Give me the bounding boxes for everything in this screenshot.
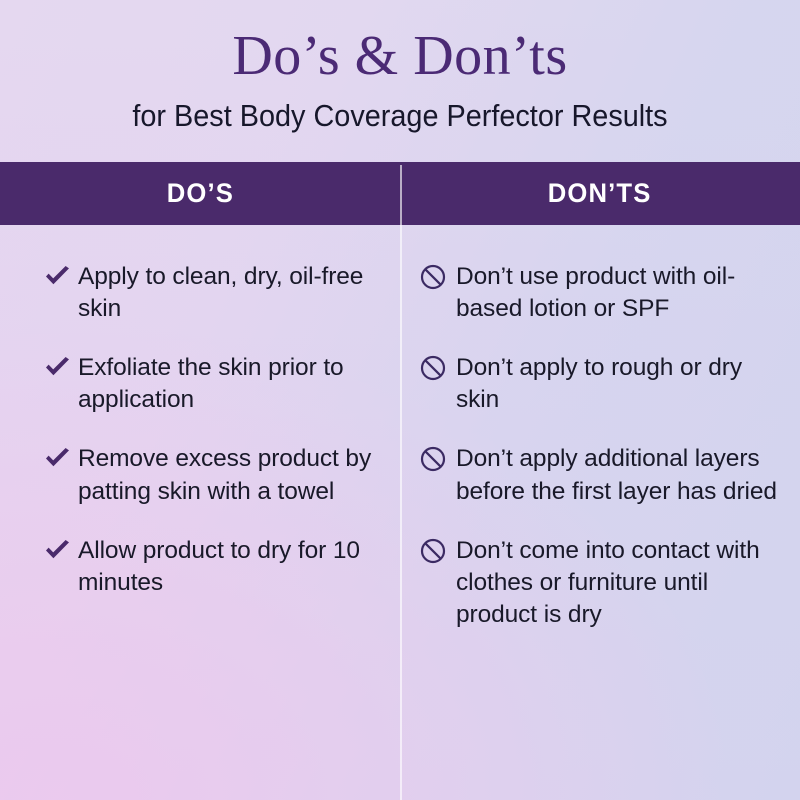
header: Do’s & Don’ts for Best Body Coverage Per…: [0, 0, 800, 134]
list-item-text: Remove excess product by patting skin wi…: [78, 443, 382, 507]
check-icon: [44, 535, 78, 561]
list-item-text: Allow product to dry for 10 minutes: [78, 535, 382, 599]
list-item-text: Exfoliate the skin prior to application: [78, 352, 382, 416]
column-header-donts: DON’TS: [400, 162, 800, 225]
list-item: Apply to clean, dry, oil-free skin: [44, 261, 382, 325]
prohibited-icon: [420, 535, 456, 564]
list-item-text: Apply to clean, dry, oil-free skin: [78, 261, 382, 325]
list-item: Allow product to dry for 10 minutes: [44, 535, 382, 599]
page-subtitle: for Best Body Coverage Perfector Results: [28, 98, 772, 134]
list-item-text: Don’t come into contact with clothes or …: [456, 535, 790, 631]
list-item: Don’t apply to rough or dry skin: [420, 352, 790, 416]
check-icon: [44, 261, 78, 287]
column-header-dos-label: DO’S: [166, 178, 233, 209]
column-divider: [400, 165, 402, 800]
column-header-dos: DO’S: [0, 162, 400, 225]
prohibited-icon: [420, 261, 456, 290]
list-item: Don’t come into contact with clothes or …: [420, 535, 790, 631]
dos-column: Apply to clean, dry, oil-free skin Exfol…: [0, 261, 400, 800]
check-icon: [44, 443, 78, 469]
column-header-donts-label: DON’TS: [548, 178, 652, 209]
list-item-text: Don’t apply to rough or dry skin: [456, 352, 790, 416]
donts-column: Don’t use product with oil-based lotion …: [400, 261, 800, 800]
list-item: Don’t use product with oil-based lotion …: [420, 261, 790, 325]
list-item: Don’t apply additional layers before the…: [420, 443, 790, 507]
check-icon: [44, 352, 78, 378]
list-item: Exfoliate the skin prior to application: [44, 352, 382, 416]
page-title: Do’s & Don’ts: [0, 26, 800, 86]
prohibited-icon: [420, 443, 456, 472]
prohibited-icon: [420, 352, 456, 381]
list-item: Remove excess product by patting skin wi…: [44, 443, 382, 507]
infographic-page: Do’s & Don’ts for Best Body Coverage Per…: [0, 0, 800, 800]
list-item-text: Don’t use product with oil-based lotion …: [456, 261, 790, 325]
list-item-text: Don’t apply additional layers before the…: [456, 443, 790, 507]
